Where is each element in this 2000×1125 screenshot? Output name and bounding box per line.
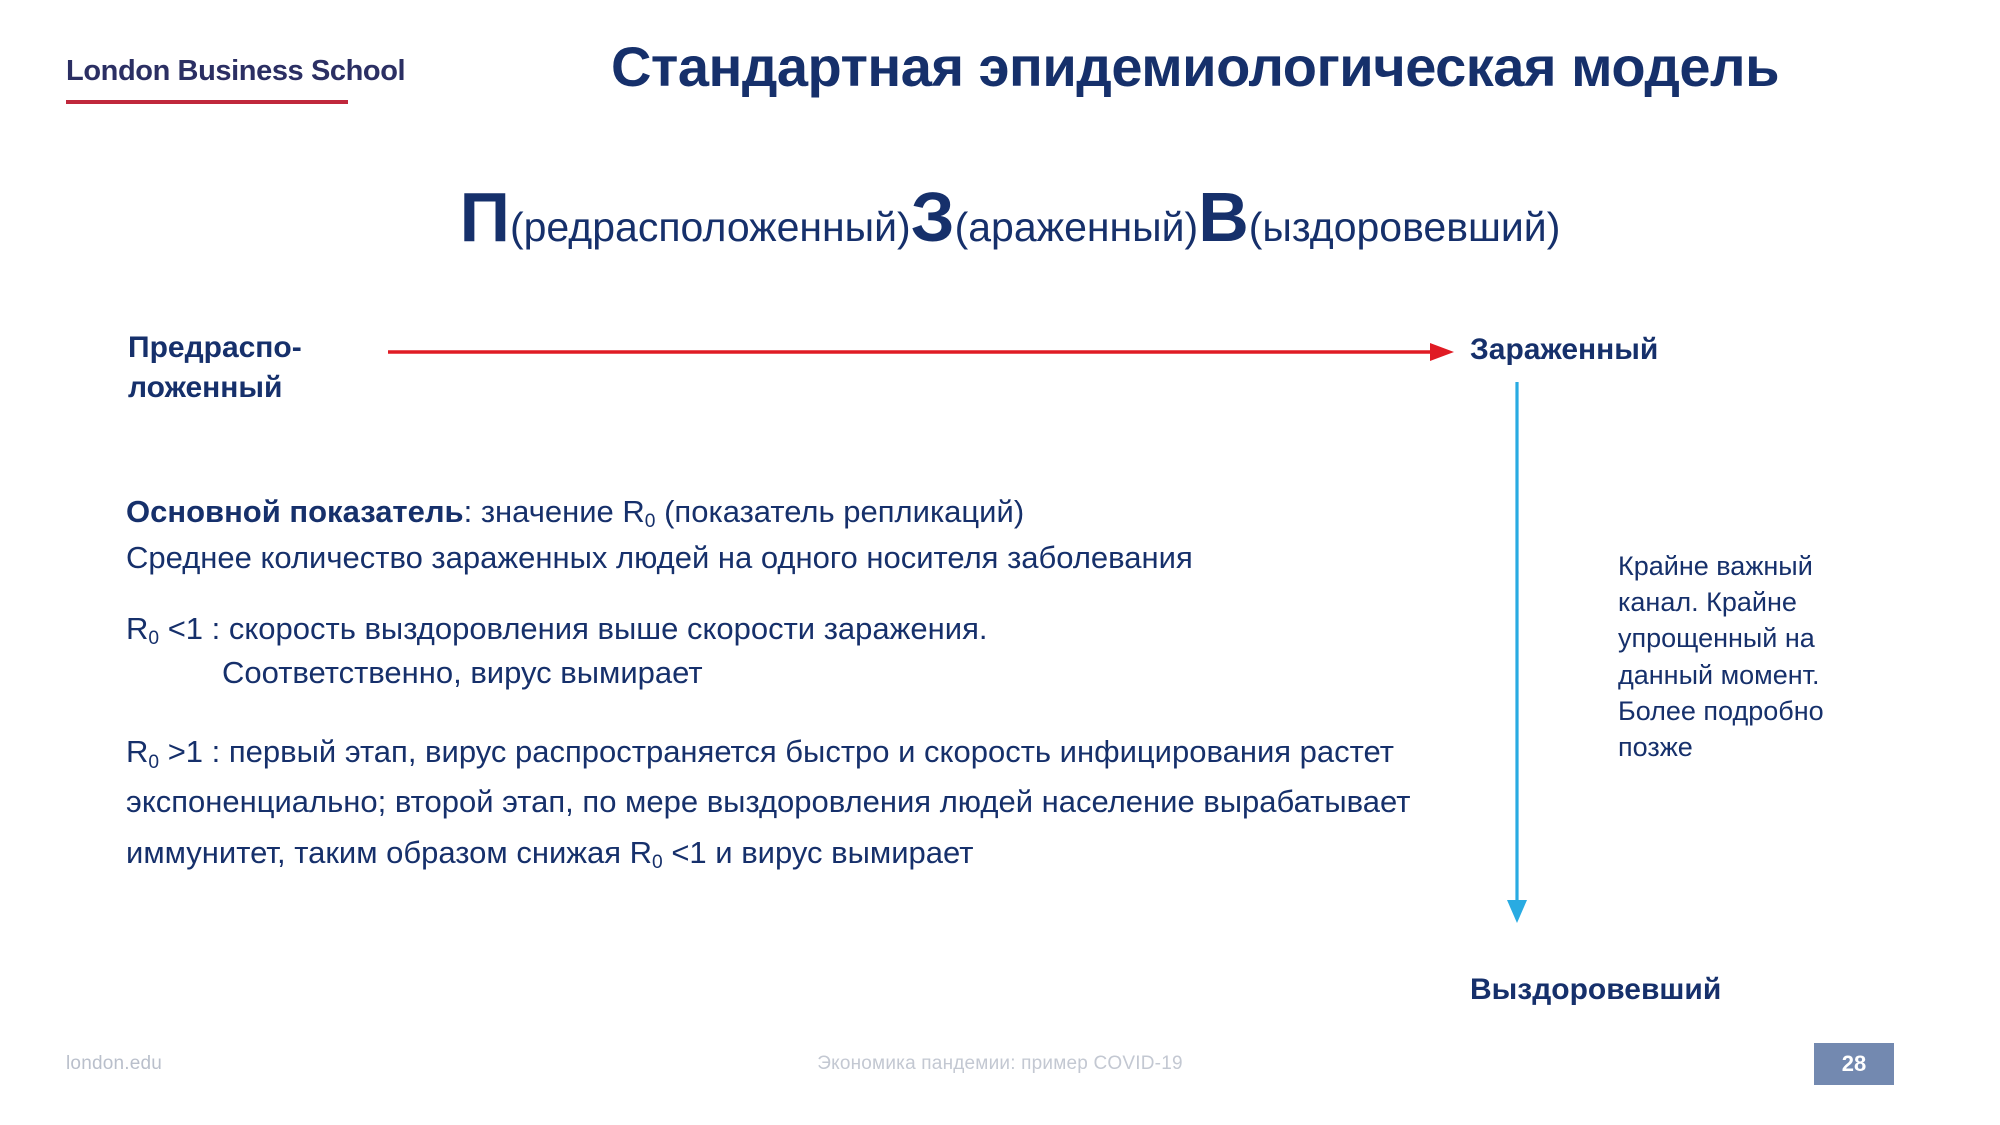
r0-gt-symbol: R [126, 734, 148, 769]
formula-rest-r: (ыздоровевший) [1249, 204, 1561, 250]
paragraph-key-metric: Основной показатель: значение R0 (показа… [126, 492, 1426, 532]
diagram-node-susceptible: Предраспо- ложенный [128, 328, 398, 407]
paragraph-r0-less-than-one: R0 <1 : скорость выздоровления выше скор… [126, 609, 1426, 649]
page-title: Стандартная эпидемиологическая модель [430, 36, 1960, 99]
infection-arrow-icon [386, 336, 1456, 368]
slide-canvas: London Business School Стандартная эпиде… [0, 0, 2000, 1125]
footer-deck-title: Экономика пандемии: пример COVID-19 [500, 1053, 1500, 1075]
page-number-badge: 28 [1814, 1043, 1894, 1085]
formula-cap-s: П [460, 178, 510, 256]
body-copy: Основной показатель: значение R0 (показа… [126, 492, 1426, 878]
key-metric-subscript: 0 [645, 511, 656, 532]
diagram-node-infected: Зараженный [1470, 330, 1800, 370]
logo-text: London Business School [66, 56, 366, 86]
formula-cap-i: З [911, 178, 955, 256]
r0-lt-symbol: R [126, 611, 148, 646]
logo-underline-rule [66, 100, 348, 104]
paragraph-r0-less-than-one-continued: Соответственно, вирус вымирает [222, 653, 1426, 693]
diagram-node-recovered: Выздоровевший [1470, 970, 1850, 1010]
r0-gt-subscript: 0 [148, 752, 159, 773]
r0-lt-text: <1 : скорость выздоровления выше скорост… [159, 611, 987, 646]
formula-rest-s: (редрасположенный) [510, 204, 911, 250]
r0-lt-subscript: 0 [148, 628, 159, 649]
paragraph-r0-greater-than-one: R0 >1 : первый этап, вирус распространяе… [126, 727, 1426, 878]
key-metric-tail: (показатель репликаций) [655, 494, 1024, 529]
key-metric-label: Основной показатель [126, 494, 464, 529]
paragraph-average: Среднее количество зараженных людей на о… [126, 538, 1426, 578]
r0-gt-text-b: <1 и вирус вымирает [663, 835, 974, 870]
formula-rest-i: (араженный) [955, 204, 1199, 250]
formula-cap-r: В [1198, 178, 1249, 256]
recovery-arrow-icon [1496, 380, 1538, 925]
footer-website: london.edu [66, 1053, 162, 1075]
model-formula: П(редрасположенный)З(араженный)В(ыздоров… [300, 182, 1720, 252]
brand-logo: London Business School [66, 56, 366, 104]
side-note-text: Крайне важный канал. Крайне упрощенный н… [1618, 548, 1878, 765]
r0-gt-subscript-b: 0 [652, 852, 663, 873]
key-metric-rest: : значение R [464, 494, 645, 529]
